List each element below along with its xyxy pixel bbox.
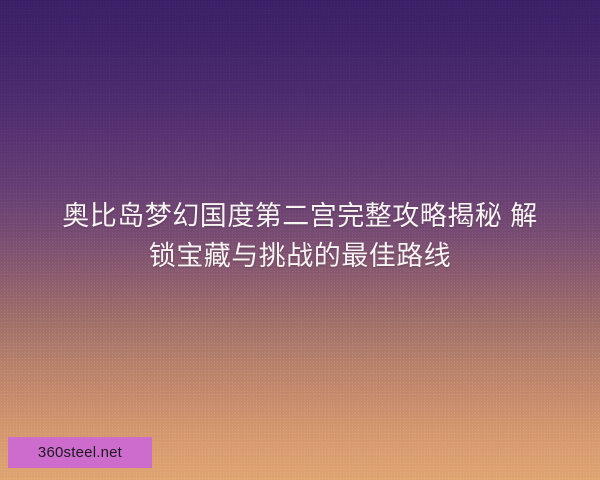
headline-line-1: 奥比岛梦幻国度第二宫完整攻略揭秘 解 bbox=[30, 196, 570, 236]
headline-line-2: 锁宝藏与挑战的最佳路线 bbox=[30, 236, 570, 276]
headline-block: 奥比岛梦幻国度第二宫完整攻略揭秘 解 锁宝藏与挑战的最佳路线 bbox=[0, 196, 600, 276]
cover-image: 奥比岛梦幻国度第二宫完整攻略揭秘 解 锁宝藏与挑战的最佳路线 360steel.… bbox=[0, 0, 600, 480]
watermark-label: 360steel.net bbox=[38, 445, 122, 460]
watermark-badge[interactable]: 360steel.net bbox=[8, 437, 152, 468]
